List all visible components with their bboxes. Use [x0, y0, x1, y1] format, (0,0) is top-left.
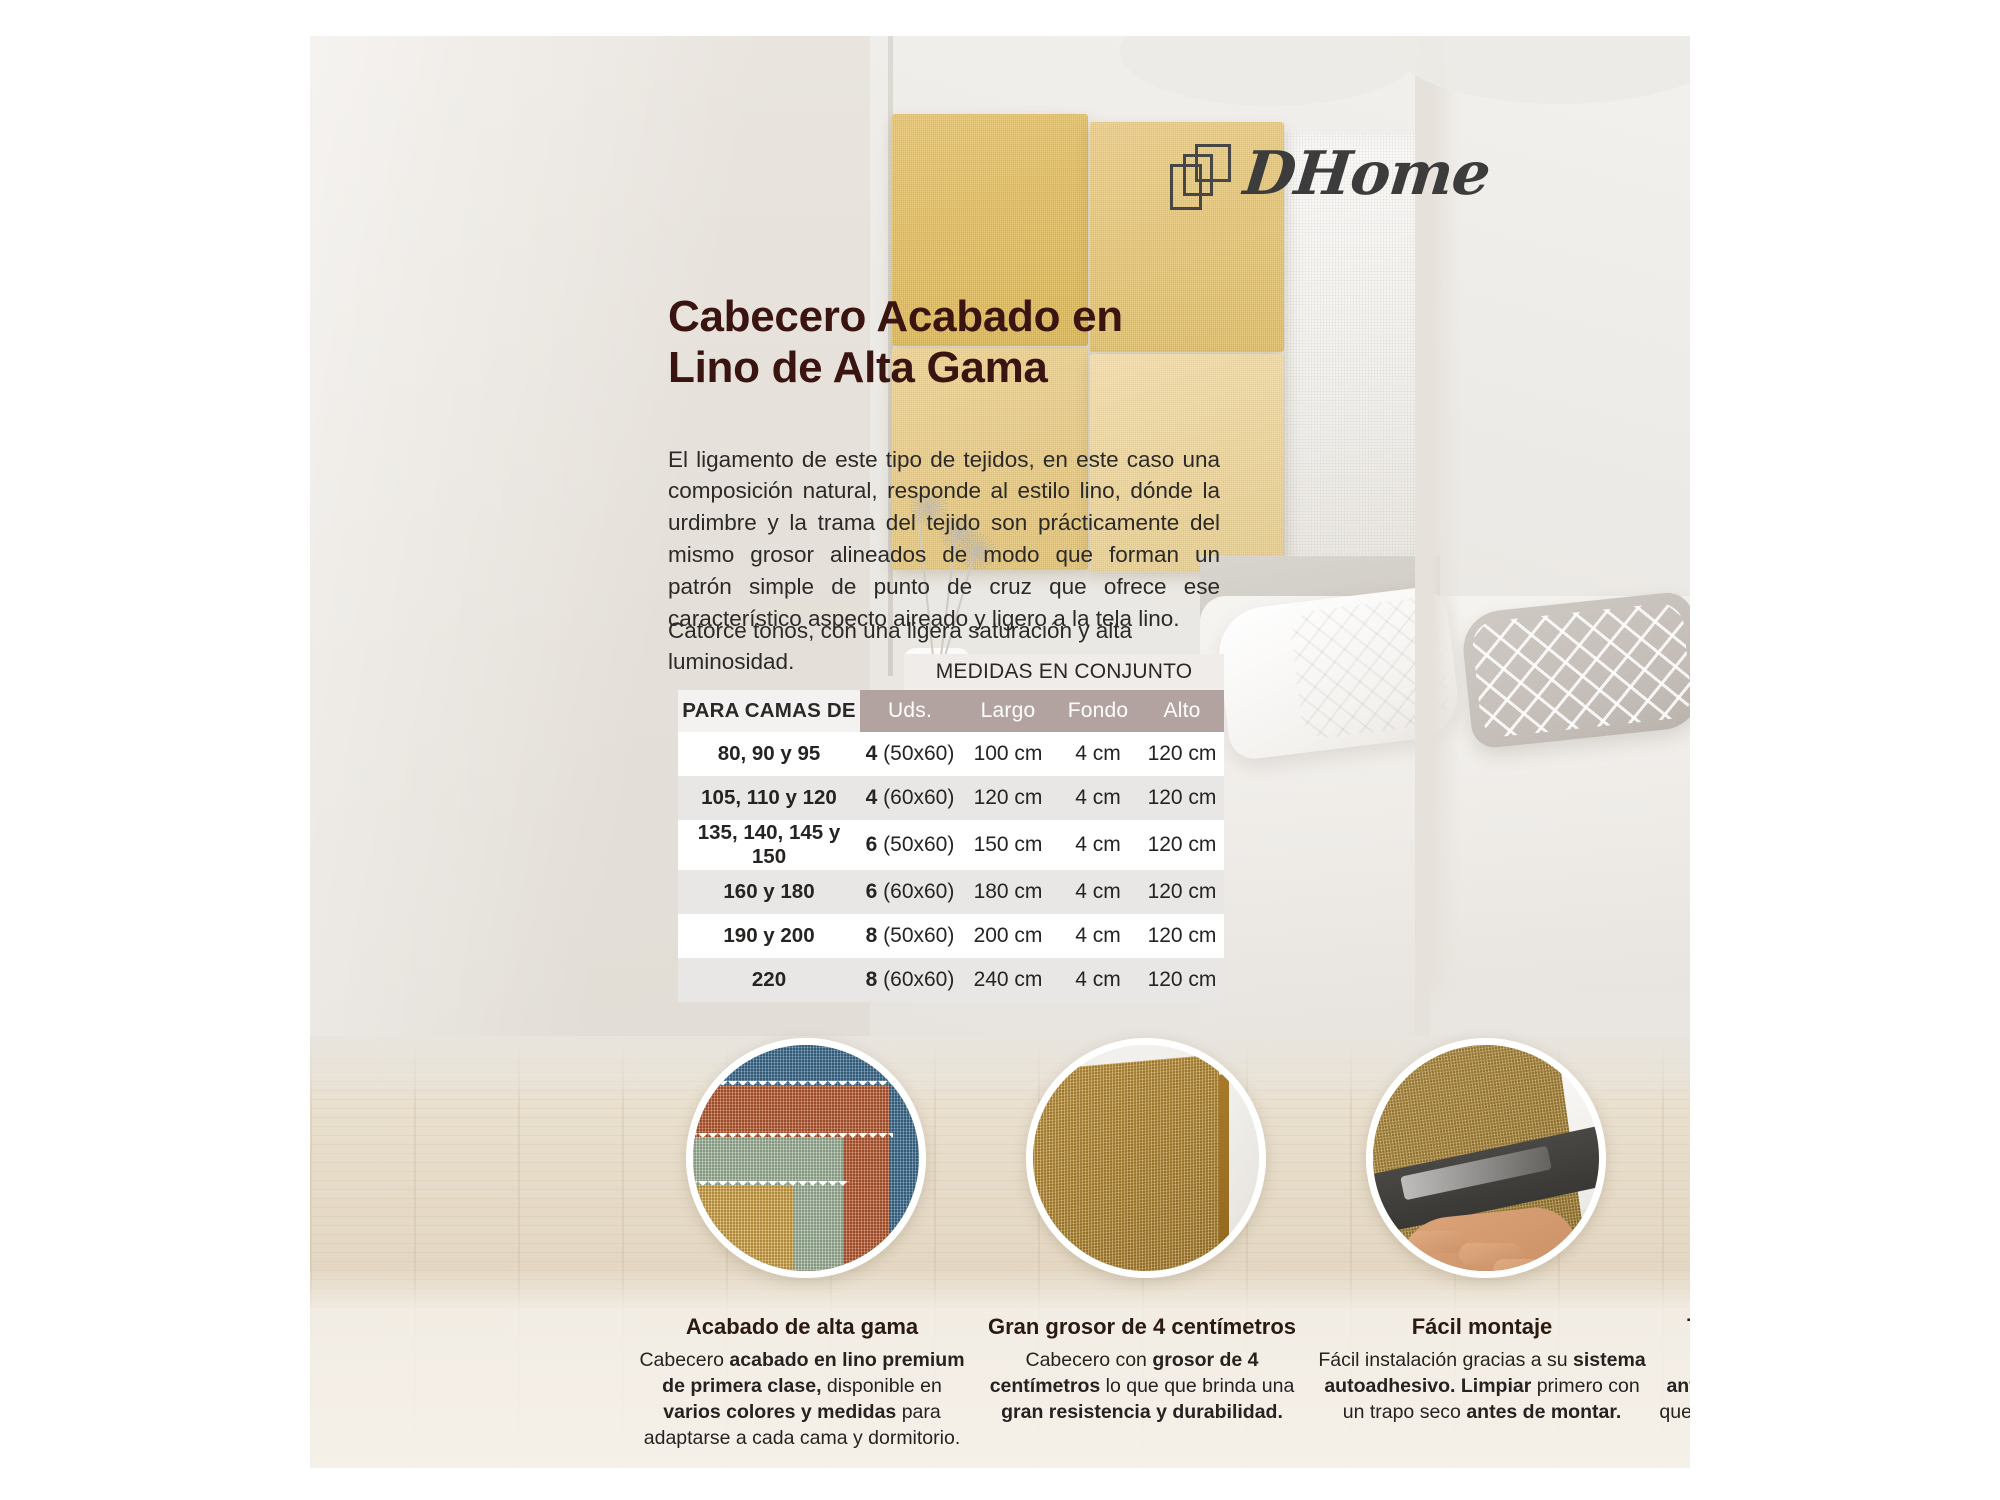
caption-text: lo que que brinda una	[1100, 1375, 1294, 1397]
table-row: 105, 110 y 1204 (60x60)120 cm4 cm120 cm	[678, 776, 1224, 820]
intro-paragraph: El ligamento de este tipo de tejidos, en…	[668, 444, 1220, 636]
cell-fondo: 4 cm	[1056, 732, 1140, 776]
cell-largo: 180 cm	[960, 870, 1056, 914]
table-row: 80, 90 y 954 (50x60)100 cm4 cm120 cm	[678, 732, 1224, 776]
cell-largo: 240 cm	[960, 958, 1056, 1002]
cell-beds: 105, 110 y 120	[678, 776, 860, 820]
cell-units: 8 (50x60)	[860, 914, 960, 958]
adhesive-mounting-photo	[1366, 1038, 1606, 1278]
caption-text: Fácil instalación gracias a su	[1318, 1349, 1573, 1371]
table-row: 190 y 2008 (50x60)200 cm4 cm120 cm	[678, 914, 1224, 958]
panel-thickness-photo	[1026, 1038, 1266, 1278]
cell-largo: 100 cm	[960, 732, 1056, 776]
feature-body-3: Fácil instalación gracias a su sistema a…	[1317, 1348, 1647, 1426]
column-header-fondo: Fondo	[1056, 690, 1140, 732]
fabric-swatches-photo	[686, 1038, 926, 1278]
cell-fondo: 4 cm	[1056, 776, 1140, 820]
cell-alto: 120 cm	[1140, 914, 1224, 958]
cell-beds: 80, 90 y 95	[678, 732, 860, 776]
feature-title-2: Gran grosor de 4 centímetros	[972, 1314, 1312, 1340]
cell-largo: 120 cm	[960, 776, 1056, 820]
swatch-gold	[693, 1185, 793, 1278]
table-header-row: PARA CAMAS DE Uds. Largo Fondo Alto	[678, 690, 1224, 732]
feature-body-2: Cabecero con grosor de 4 centímetros lo …	[977, 1348, 1307, 1426]
feature-title-1: Acabado de alta gama	[632, 1314, 972, 1340]
page-title-line1: Cabecero Acabado en	[668, 291, 1228, 342]
cell-largo: 150 cm	[960, 820, 1056, 870]
cell-alto: 120 cm	[1140, 820, 1224, 870]
cell-units: 4 (60x60)	[860, 776, 960, 820]
cell-beds: 190 y 200	[678, 914, 860, 958]
column-header-largo: Largo	[960, 690, 1056, 732]
finger	[1409, 1231, 1465, 1253]
cell-fondo: 4 cm	[1056, 870, 1140, 914]
emphasis-text: Limpiar	[1461, 1375, 1531, 1397]
page-title: Cabecero Acabado en Lino de Alta Gama	[668, 291, 1228, 394]
caption-text: disponible en	[822, 1375, 942, 1397]
column-header-alto: Alto	[1140, 690, 1224, 732]
cell-units: 6 (50x60)	[860, 820, 960, 870]
cell-alto: 120 cm	[1140, 776, 1224, 820]
table-row: 160 y 1806 (60x60)180 cm4 cm120 cm	[678, 870, 1224, 914]
feature-title-3: Fácil montaje	[1312, 1314, 1652, 1340]
cell-units: 8 (60x60)	[860, 958, 960, 1002]
table-row: 2208 (60x60)240 cm4 cm120 cm	[678, 958, 1224, 1002]
cell-units: 6 (60x60)	[860, 870, 960, 914]
measurements-table-body: 80, 90 y 954 (50x60)100 cm4 cm120 cm105,…	[678, 732, 1224, 1002]
feature-title-4: Tapizado en lino premium	[1652, 1314, 1690, 1340]
cell-fondo: 4 cm	[1056, 914, 1140, 958]
column-header-beds: PARA CAMAS DE	[678, 690, 860, 732]
emphasis-text: varios colores y medidas	[663, 1401, 896, 1423]
product-infographic-poster: DHome Cabecero Acabado en Lino de Alta G…	[310, 36, 1690, 1468]
grey-patterned-pillow	[1460, 590, 1690, 750]
column-header-units: Uds.	[860, 690, 960, 732]
table-row: 135, 140, 145 y 1506 (50x60)150 cm4 cm12…	[678, 820, 1224, 870]
page-title-line2: Lino de Alta Gama	[668, 342, 1228, 393]
cell-beds: 160 y 180	[678, 870, 860, 914]
cell-beds: 135, 140, 145 y 150	[678, 820, 860, 870]
emphasis-text: antimanchas	[1666, 1375, 1690, 1397]
cell-beds: 220	[678, 958, 860, 1002]
feature-body-4: Acabado en lino premium antimanchas de ú…	[1657, 1348, 1690, 1452]
overlapping-rectangles-icon	[1170, 144, 1228, 204]
brand-name: DHome	[1241, 144, 1493, 204]
emphasis-text: antes de montar.	[1466, 1401, 1621, 1423]
caption-text: Cabecero con	[1025, 1349, 1152, 1371]
emphasis-text: gran resistencia y durabilidad.	[1001, 1401, 1283, 1423]
brand-logo: DHome	[1170, 144, 1489, 204]
measurements-table-wrapper: MEDIDAS EN CONJUNTO PARA CAMAS DE Uds. L…	[678, 654, 1224, 1002]
cell-alto: 120 cm	[1140, 732, 1224, 776]
cell-units: 4 (50x60)	[860, 732, 960, 776]
cell-alto: 120 cm	[1140, 870, 1224, 914]
cell-fondo: 4 cm	[1056, 820, 1140, 870]
caption-text: Cabecero	[639, 1349, 729, 1371]
cell-fondo: 4 cm	[1056, 958, 1140, 1002]
table-group-header: MEDIDAS EN CONJUNTO	[904, 654, 1224, 690]
cell-alto: 120 cm	[1140, 958, 1224, 1002]
gold-linen-panel	[1026, 1054, 1219, 1278]
cell-largo: 200 cm	[960, 914, 1056, 958]
measurements-table: PARA CAMAS DE Uds. Largo Fondo Alto 80, …	[678, 690, 1224, 1002]
feature-body-1: Cabecero acabado en lino premium de prim…	[637, 1348, 967, 1452]
